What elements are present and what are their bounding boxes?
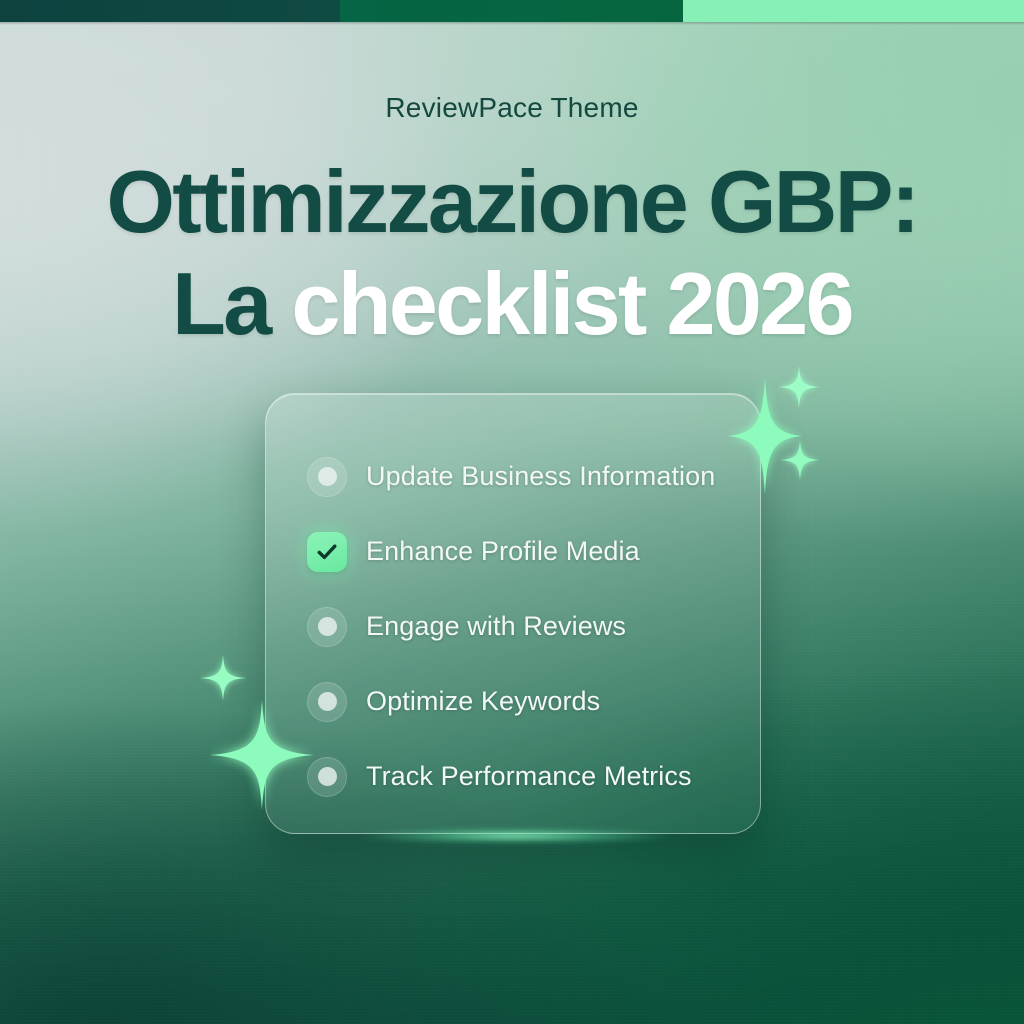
circle-dot-icon: [307, 457, 347, 497]
page-title: Ottimizzazione GBP: La checklist 2026: [0, 158, 1024, 348]
checklist-item-3[interactable]: Optimize Keywords: [306, 664, 738, 739]
checklist-item-4[interactable]: Track Performance Metrics: [306, 739, 738, 814]
checklist-item-label-0: Update Business Information: [366, 461, 715, 492]
checkbox-2[interactable]: [306, 606, 348, 648]
checklist-item-2[interactable]: Engage with Reviews: [306, 589, 738, 664]
circle-dot-inner: [318, 767, 337, 786]
checklist-item-1[interactable]: Enhance Profile Media: [306, 514, 738, 589]
top-accent-bar: [0, 0, 1024, 22]
checkmark-icon: [307, 532, 347, 572]
top-bar-segment-mint: [683, 0, 1024, 22]
circle-dot-inner: [318, 692, 337, 711]
brand-eyebrow: ReviewPace Theme: [0, 92, 1024, 124]
circle-dot-inner: [318, 467, 337, 486]
page-title-line-2-dark: La: [172, 254, 270, 353]
circle-dot-icon: [307, 757, 347, 797]
checklist-item-label-1: Enhance Profile Media: [366, 536, 640, 567]
page-title-line-1: Ottimizzazione GBP:: [0, 158, 1024, 246]
page-title-line-2-light: checklist 2026: [291, 254, 851, 353]
checkbox-0[interactable]: [306, 456, 348, 498]
checklist-item-label-3: Optimize Keywords: [366, 686, 600, 717]
checkbox-1[interactable]: [306, 531, 348, 573]
checkbox-3[interactable]: [306, 681, 348, 723]
checklist-item-label-2: Engage with Reviews: [366, 611, 626, 642]
top-bar-segment-dark-teal: [0, 0, 340, 22]
top-bar-shadow: [0, 22, 1024, 25]
poster-canvas: ReviewPace Theme Ottimizzazione GBP: La …: [0, 0, 1024, 1024]
circle-dot-icon: [307, 607, 347, 647]
checklist-item-0[interactable]: Update Business Information: [306, 439, 738, 514]
checklist: Update Business Information Enhance Prof…: [306, 439, 738, 814]
top-bar-segment-deep-green: [340, 0, 683, 22]
circle-dot-inner: [318, 617, 337, 636]
circle-dot-icon: [307, 682, 347, 722]
checklist-card: Update Business Information Enhance Prof…: [265, 393, 761, 834]
page-title-line-2: La checklist 2026: [0, 260, 1024, 348]
checkbox-4[interactable]: [306, 756, 348, 798]
checklist-item-label-4: Track Performance Metrics: [366, 761, 692, 792]
